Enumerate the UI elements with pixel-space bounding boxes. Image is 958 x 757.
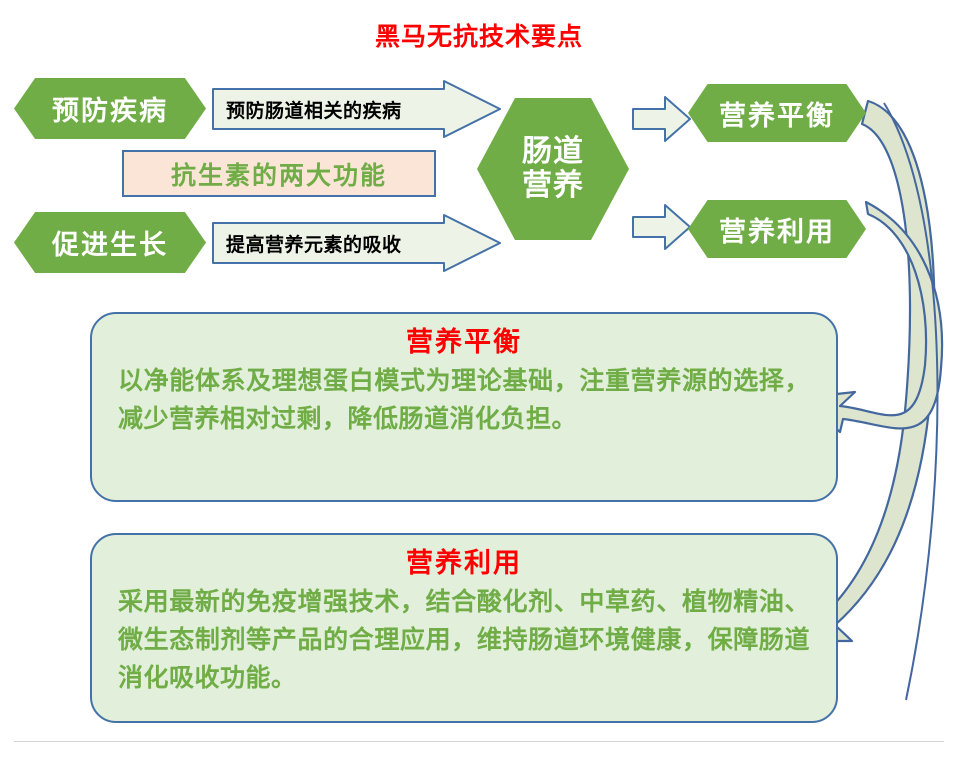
page-title: 黑马无抗技术要点: [0, 22, 958, 52]
center-hexagon-line1: 肠道: [522, 135, 584, 169]
bottom-divider: [14, 741, 944, 742]
slide-canvas: 黑马无抗技术要点 预防疾病 促进生长 预防肠道相关的疾病 提高营养元素的吸收 抗…: [0, 0, 958, 757]
curve-strand-icon: [884, 103, 937, 700]
detail-card-nutrition-utilization[interactable]: 营养利用 采用最新的免疫增强技术，结合酸化剂、中草药、植物精油、微生态制剂等产品…: [90, 533, 838, 723]
detail-card-nutrition-balance-title: 营养平衡: [118, 326, 810, 360]
mini-right-arrow-icon-top: [632, 96, 692, 142]
detail-card-nutrition-utilization-body: 采用最新的免疫增强技术，结合酸化剂、中草药、植物精油、微生态制剂等产品的合理应用…: [118, 583, 810, 697]
detail-card-nutrition-utilization-title: 营养利用: [118, 547, 810, 581]
outcome-nutrition-utilization-label: 营养利用: [688, 200, 866, 258]
tag-prevent-disease-label: 预防疾病: [14, 78, 206, 139]
callout-improve-nutrient-absorption-label: 提高营养元素的吸收: [226, 214, 402, 272]
detail-card-nutrition-balance-body: 以净能体系及理想蛋白模式为理论基础，注重营养源的选择，减少营养相对过剩，降低肠道…: [118, 362, 810, 438]
detail-card-nutrition-balance[interactable]: 营养平衡 以净能体系及理想蛋白模式为理论基础，注重营养源的选择，减少营养相对过剩…: [90, 312, 838, 502]
callout-prevent-intestinal-disease[interactable]: 预防肠道相关的疾病: [212, 80, 502, 138]
tag-promote-growth-label: 促进生长: [14, 212, 206, 273]
antibiotic-functions-label: 抗生素的两大功能: [124, 152, 434, 195]
outcome-nutrition-balance-label: 营养平衡: [688, 84, 866, 142]
callout-improve-nutrient-absorption[interactable]: 提高营养元素的吸收: [212, 214, 502, 272]
outcome-nutrition-balance[interactable]: 营养平衡: [688, 84, 866, 142]
outcome-nutrition-utilization[interactable]: 营养利用: [688, 200, 866, 258]
antibiotic-functions-box[interactable]: 抗生素的两大功能: [122, 150, 436, 197]
tag-prevent-disease[interactable]: 预防疾病: [14, 78, 206, 139]
mini-right-arrow-icon-bottom: [632, 204, 692, 250]
center-hexagon-line2: 营养: [522, 169, 584, 203]
callout-prevent-intestinal-disease-label: 预防肠道相关的疾病: [226, 80, 402, 138]
tag-promote-growth[interactable]: 促进生长: [14, 212, 206, 273]
